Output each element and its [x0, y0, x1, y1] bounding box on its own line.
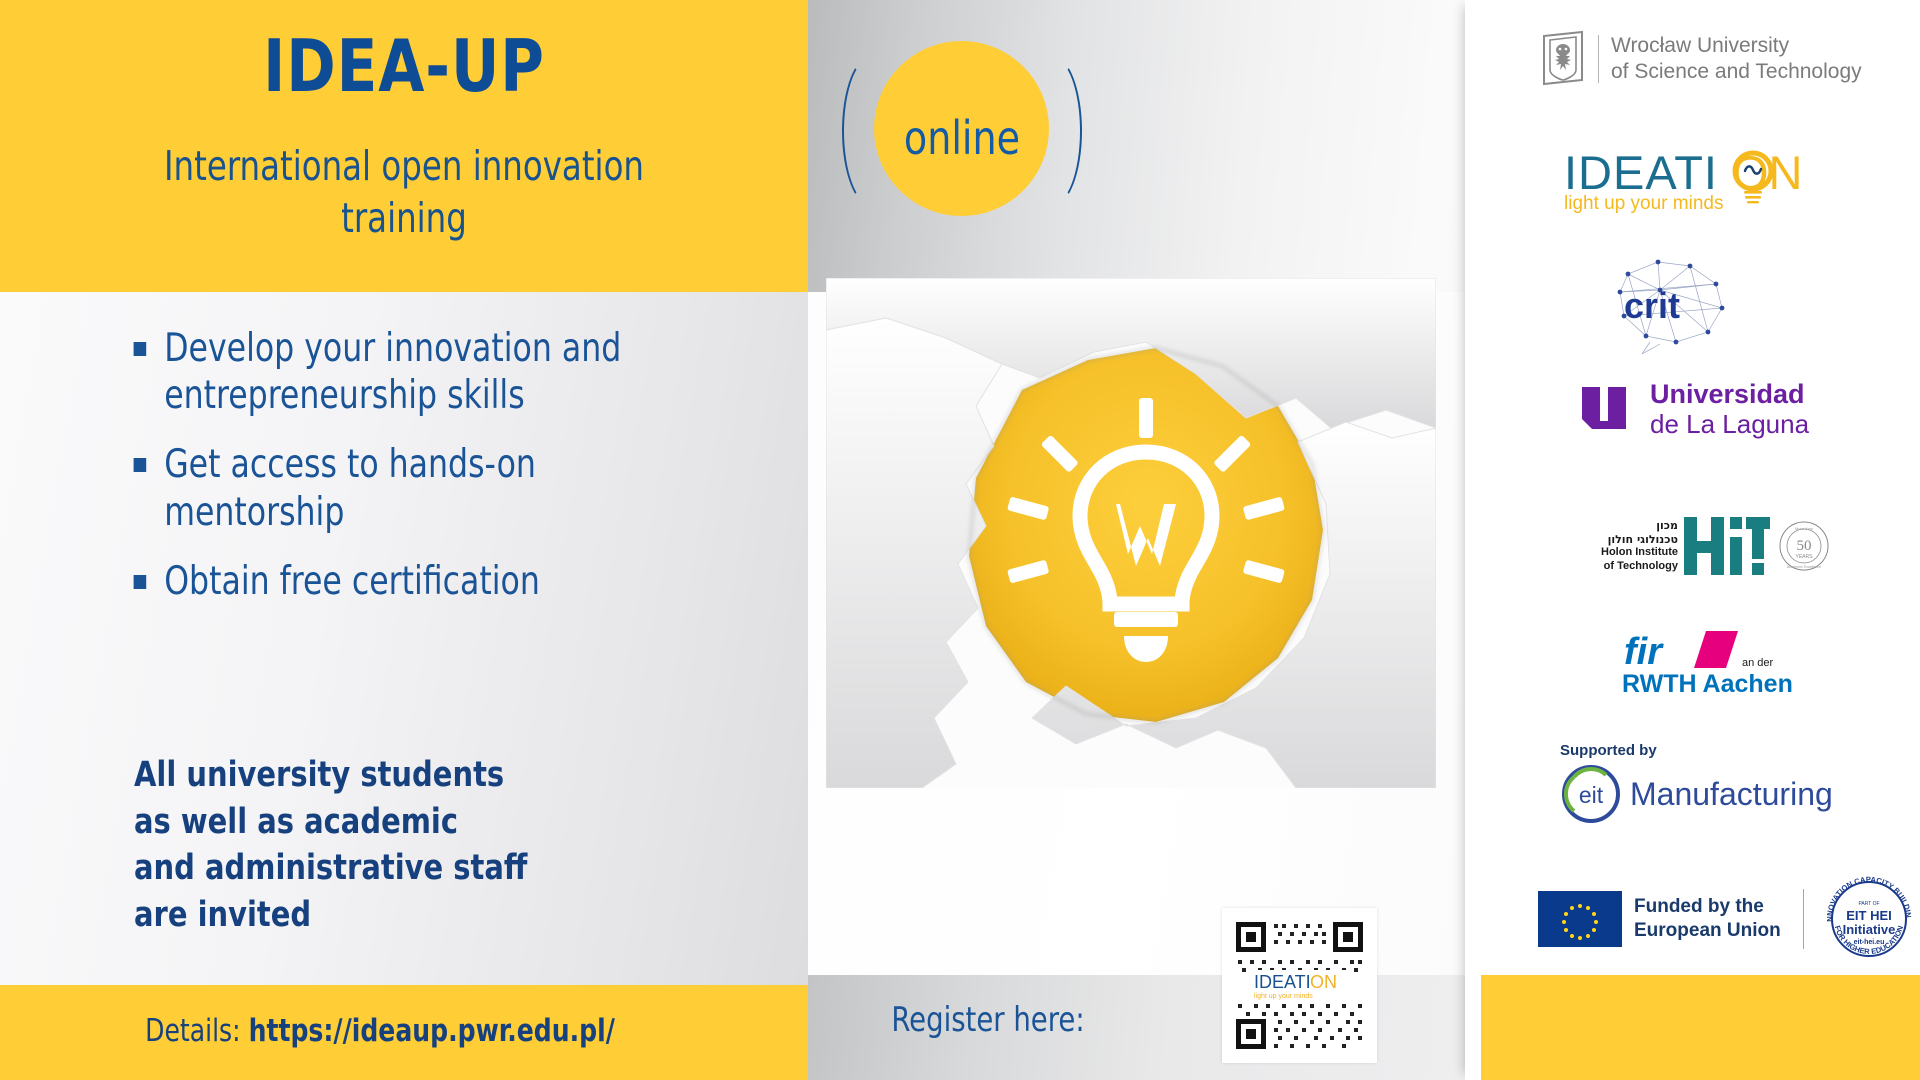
ideation-bulb-icon: [1730, 149, 1776, 205]
qr-ideation-accent: ON: [1310, 972, 1337, 992]
hit-hebrew-line-1: מכון: [1570, 519, 1678, 533]
logo-crit: crit: [1598, 250, 1748, 355]
footer-bar: Details: https://ideaup.pwr.edu.pl/: [0, 985, 808, 1080]
eit-hei-part-of: PART OF: [1858, 901, 1879, 907]
qr-ideation-main: IDEATI: [1254, 972, 1311, 992]
crit-network-icon: crit: [1598, 250, 1748, 355]
eu-funding-line-2: European Union: [1634, 919, 1781, 943]
bullet-square-icon: [134, 342, 147, 356]
eit-hei-line-1: EIT HEI: [1846, 908, 1892, 923]
register-here-label: Register here:: [880, 1000, 1096, 1040]
funding-badges-row: Funded by the European Union INNOVATION …: [1538, 872, 1916, 966]
poster-banner: IDEA-UP International open innovation tr…: [0, 0, 1920, 1080]
hit-seal-bottom-text: Academic Excellence: [1787, 565, 1821, 569]
logo-divider: [1598, 35, 1599, 83]
eit-hei-seal-icon: INNOVATION CAPACITY BUILDING FOR HIGHER …: [1822, 872, 1916, 966]
hit-seal-top-text: More than: [1795, 526, 1813, 531]
ull-line-2: de La Laguna: [1650, 410, 1809, 439]
details-line: Details: https://ideaup.pwr.edu.pl/: [38, 1013, 722, 1049]
list-item-label: Develop your innovation and entrepreneur…: [164, 326, 621, 418]
audience-line-1: All university students: [134, 752, 723, 799]
fir-rwth-name: RWTH Aachen: [1622, 670, 1822, 699]
ull-line-1: Universidad: [1650, 379, 1809, 409]
bullet-square-icon: [134, 458, 147, 472]
crit-wordmark: crit: [1624, 285, 1680, 326]
website-url[interactable]: https://ideaup.pwr.edu.pl/: [249, 1013, 615, 1049]
list-item-label: Obtain free certification: [164, 559, 540, 604]
hit-english-line-1: Holon Institute: [1570, 546, 1678, 559]
hit-seal-number: 50: [1797, 538, 1812, 554]
fir-an-der-text: an der: [1742, 657, 1774, 669]
hit-mark-icon: [1682, 515, 1774, 577]
registration-qr-code[interactable]: IDEATI ON light up your minds: [1222, 908, 1377, 1063]
details-label: Details:: [145, 1013, 240, 1049]
supported-by-label: Supported by: [1560, 742, 1860, 759]
list-item-label: Get access to hands-on mentorship: [164, 442, 536, 534]
online-badge: online: [846, 33, 1046, 233]
pwr-name-line-2: of Science and Technology: [1611, 59, 1862, 85]
audience-line-2: as well as academic: [134, 799, 723, 846]
logo-holon-institute: מכון טכנולוגי חולון Holon Institute of T…: [1570, 512, 1860, 580]
hit-seal-label: YEARS: [1796, 554, 1814, 560]
eit-circle-icon: eit: [1560, 763, 1622, 825]
bullet-square-icon: [134, 575, 147, 589]
eit-wordmark: eit: [1579, 782, 1604, 808]
logo-fir-rwth-aachen: fir an der RWTH Aachen: [1622, 628, 1822, 700]
fir-wordmark: fir: [1624, 631, 1664, 672]
fir-mark-icon: fir an der: [1622, 628, 1802, 672]
audience-line-4: are invited: [134, 892, 723, 939]
online-badge-label: online: [855, 111, 1068, 165]
hit-hebrew-line-2: טכנולוגי חולון: [1570, 533, 1678, 547]
logo-wroclaw-university: Wrocław University of Science and Techno…: [1538, 28, 1868, 90]
qr-code-svg: IDEATI ON light up your minds: [1222, 908, 1377, 1063]
benefits-list: Develop your innovation and entrepreneur…: [130, 325, 750, 627]
qr-ideation-tagline: light up your minds: [1254, 993, 1313, 1000]
logo-universidad-la-laguna: Universidad de La Laguna: [1578, 380, 1848, 438]
hit-50-years-seal-icon: 50 YEARS More than Academic Excellence: [1778, 520, 1830, 572]
logo-eit-manufacturing: Supported by eit Manufacturing: [1560, 742, 1860, 825]
funding-divider: [1803, 889, 1804, 949]
pwr-name-line-1: Wrocław University: [1611, 33, 1862, 59]
audience-line-3: and administrative staff: [134, 845, 723, 892]
logo-ideation: IDEATI ON light up your minds: [1564, 145, 1854, 223]
list-item: Get access to hands-on mentorship: [130, 441, 688, 535]
list-item: Obtain free certification: [130, 558, 688, 605]
torn-paper-lightbulb-image: [826, 278, 1436, 788]
list-item: Develop your innovation and entrepreneur…: [130, 325, 688, 419]
right-bottom-yellow-strip: [1481, 975, 1920, 1080]
torn-paper-svg: [826, 278, 1436, 788]
eu-funding-line-1: Funded by the: [1634, 895, 1781, 919]
hit-english-line-2: of Technology: [1570, 560, 1678, 573]
eit-hei-line-2: Initiative: [1842, 922, 1895, 937]
page-title: IDEA-UP: [32, 24, 775, 108]
eit-hei-url: eit-hei.eu: [1853, 939, 1884, 946]
eu-flag-icon: [1538, 891, 1622, 947]
pwr-crest-icon: [1538, 30, 1590, 88]
ideation-main-text: IDEATI: [1564, 145, 1718, 200]
eit-manufacturing-name: Manufacturing: [1630, 776, 1833, 813]
audience-statement: All university students as well as acade…: [134, 752, 723, 938]
left-panel: IDEA-UP International open innovation tr…: [0, 0, 808, 1080]
ull-mark-icon: [1578, 383, 1638, 435]
page-subtitle: International open innovation training: [110, 140, 698, 245]
